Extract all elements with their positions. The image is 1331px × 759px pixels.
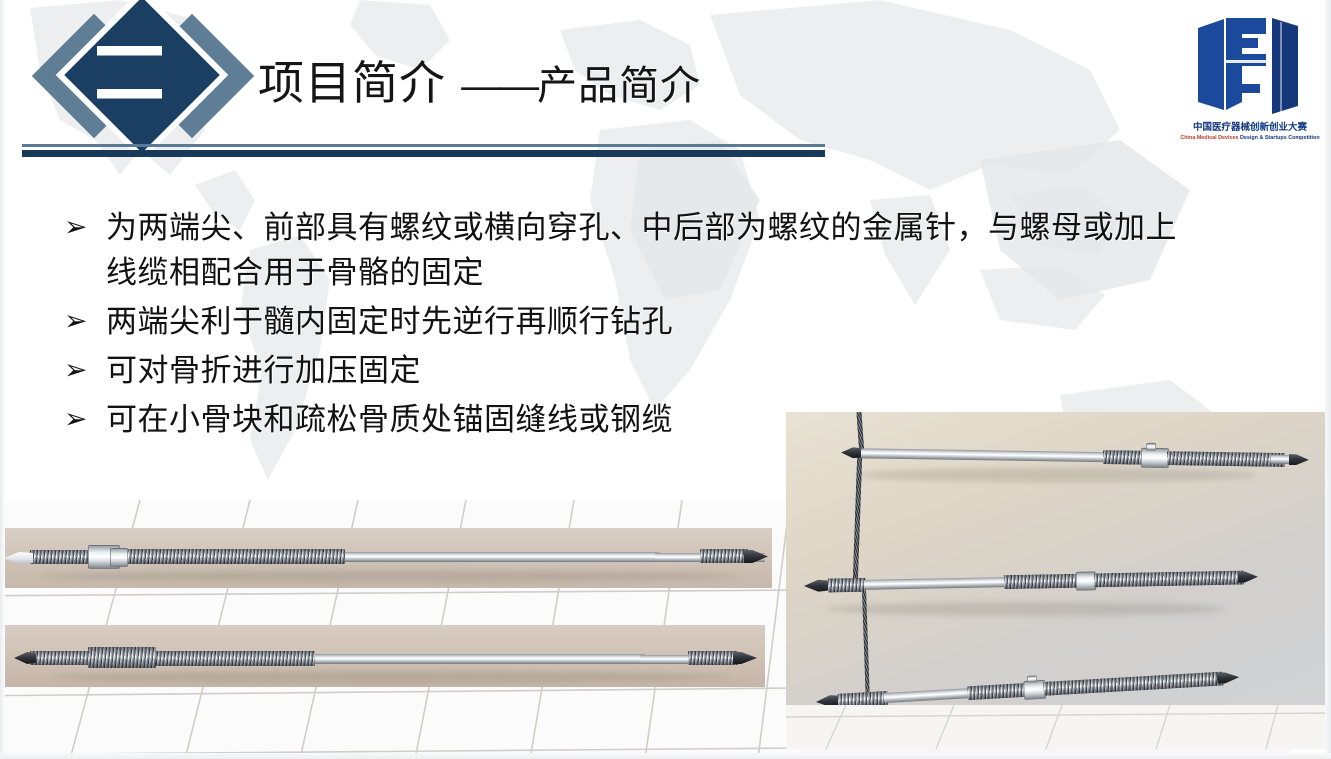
bullet-arrow-icon: ➢ [60,397,106,441]
nut [1141,448,1169,468]
photo-three-pins-with-cable [786,412,1331,749]
nut [1146,443,1156,451]
slide-bottom-edge [0,753,1331,759]
photo-single-pin-with-nut [0,528,772,588]
emblem-bar-bottom [97,89,162,98]
slide-right-edge [1325,0,1331,759]
logo-en-part1: China Medical Devices [1180,135,1238,141]
logo-cn-part2: 创新创业大赛 [1250,122,1307,133]
bullet-text: 两端尖利于髓内固定时先逆行再顺行钻孔 [106,299,1210,344]
bullet-arrow-icon: ➢ [60,205,106,249]
list-item: ➢ 可对骨折进行加压固定 [60,348,1210,393]
bullet-text: 可对骨折进行加压固定 [106,348,1210,393]
open-door-logo-icon [1194,14,1306,119]
nut [1027,675,1037,683]
pin-middle [804,566,1264,597]
page-title-sub: 产品简介 [537,64,701,108]
pin-top [841,442,1311,471]
title-rule-thin [22,144,825,147]
competition-logo: 中国医疗器械创新创业大赛 China Medical Devices Desig… [1180,14,1320,159]
steel-cable [853,454,863,584]
bullet-text: 为两端尖、前部具有螺纹或横向穿孔、中后部为螺纹的金属针，与螺母或加上线缆相配合用… [106,205,1186,295]
logo-english-name: China Medical Devices Design & Startups … [1180,135,1320,142]
double-diamond-emblem [40,2,245,152]
page-title: 项目简介 ——产品简介 [258,60,701,106]
title-rule-thick [22,150,825,157]
page-title-main: 项目简介 [258,57,446,109]
bullet-arrow-icon: ➢ [60,299,106,343]
slide-canvas: 项目简介 ——产品简介 中国医疗器械创新创业大赛 China Medical D… [0,0,1331,759]
page-title-dash: —— [452,64,537,108]
list-item: ➢ 为两端尖、前部具有螺纹或横向穿孔、中后部为螺纹的金属针，与螺母或加上线缆相配… [60,205,1210,295]
slide-left-edge [0,0,5,759]
bullet-arrow-icon: ➢ [60,348,106,392]
tile-grid-right [786,705,1331,749]
bullet-list: ➢ 为两端尖、前部具有螺纹或横向穿孔、中后部为螺纹的金属针，与螺母或加上线缆相配… [60,205,1210,446]
photo-single-pin-threaded [0,625,765,687]
logo-cn-part1: 中国医疗器械 [1193,122,1250,133]
list-item: ➢ 两端尖利于髓内固定时先逆行再顺行钻孔 [60,299,1210,344]
emblem-bar-top [97,46,162,55]
logo-en-part2: Design & Startups Competition [1240,135,1320,141]
logo-chinese-name: 中国医疗器械创新创业大赛 [1180,122,1320,133]
